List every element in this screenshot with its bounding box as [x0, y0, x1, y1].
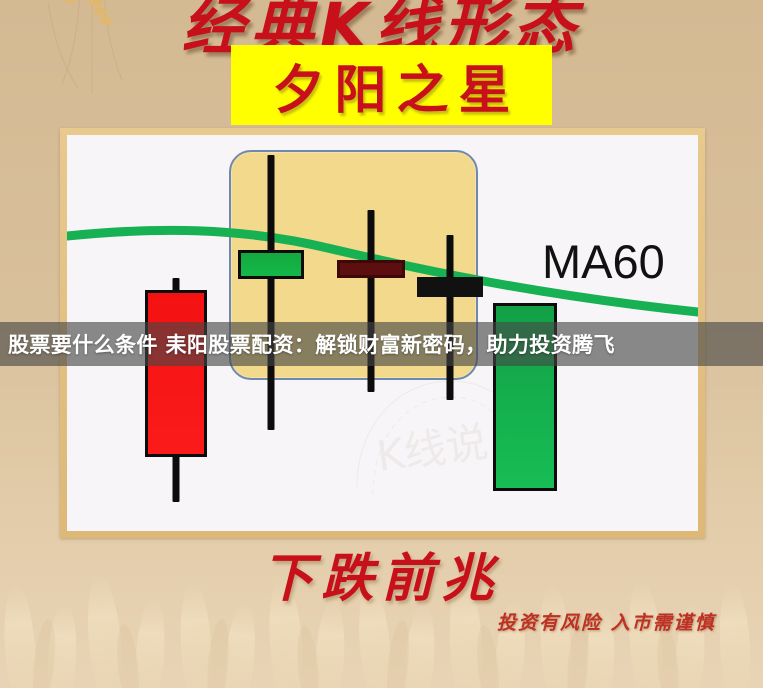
- ma60-label: MA60: [542, 234, 665, 289]
- poster-root: 经典K线形态 夕阳之星 K线说 MA60: [0, 0, 763, 688]
- candle-4-wick: [447, 235, 454, 400]
- candle-1-body: [145, 290, 207, 457]
- candle-3-body: [337, 260, 405, 278]
- banner-title-text: 股票要什么条件 耒阳股票配资：解锁财富新密码，助力投资腾飞: [0, 329, 615, 359]
- subtitle-banner: 夕阳之星: [231, 45, 552, 125]
- subtitle-text: 夕阳之星: [262, 48, 520, 123]
- risk-disclaimer: 投资有风险 入市需谨慎: [497, 608, 716, 635]
- bottom-caption: 下跌前兆: [0, 536, 763, 611]
- overlay-banner: 股票要什么条件 耒阳股票配资：解锁财富新密码，助力投资腾飞: [0, 322, 763, 366]
- candle-2-wick: [268, 155, 275, 430]
- candle-4-body: [417, 277, 483, 297]
- candle-2-body: [238, 250, 304, 279]
